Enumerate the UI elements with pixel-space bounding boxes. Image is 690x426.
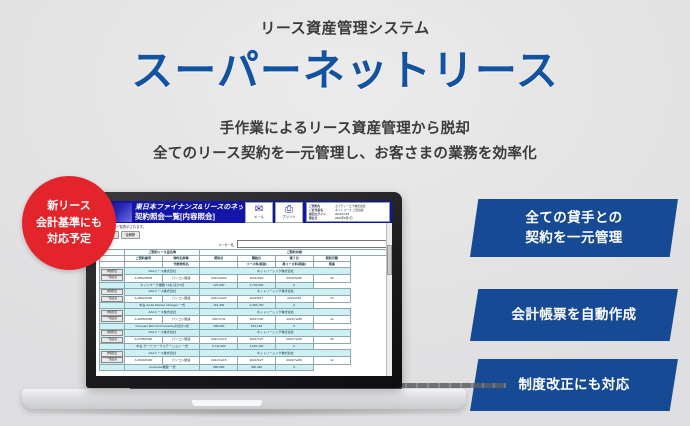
cell-lessee: AAAリース株式会社 bbox=[125, 268, 200, 275]
mail-button-label: メール bbox=[254, 216, 264, 219]
row-action-cell[interactable]: 内容照会一覧表示 bbox=[100, 350, 125, 365]
cell-lessee: AAAリース株式会社 bbox=[125, 309, 200, 316]
account-info-value: 2024年8月1日 bbox=[335, 216, 387, 220]
list-button[interactable]: 一覧表示 bbox=[101, 296, 123, 302]
cell-fee: 980,000 bbox=[200, 364, 238, 370]
badge-line-2: 会計基準にも bbox=[36, 215, 102, 232]
detail-button[interactable]: 内容照会 bbox=[101, 310, 123, 316]
row-action-cell[interactable]: 内容照会一覧表示 bbox=[100, 309, 125, 324]
account-info-row: 照会日 2024年8月1日 bbox=[309, 216, 387, 220]
cell-end-date: 2021/3a/30 bbox=[275, 275, 313, 282]
cell-contract-date: 2021/7/11 bbox=[200, 316, 238, 323]
cell-kind: パソコン関連 bbox=[162, 336, 200, 343]
cell-start-date: 2021/3/20 bbox=[238, 275, 276, 282]
table-row[interactable]: A-0708/0490パソコン関連2021/7a/152021/7/272021… bbox=[100, 336, 389, 343]
badge-line-1: 新リース bbox=[47, 198, 90, 215]
cell-contract-date: 2021/7a/23 bbox=[200, 295, 238, 302]
cell-kind: パソコン関連 bbox=[162, 357, 200, 364]
cell-lessor: ネットリーシング株式会社 bbox=[200, 288, 351, 295]
cell-start-date: 2021/8/17 bbox=[238, 295, 276, 302]
cell-end-date: 2021/7a/30 bbox=[275, 336, 313, 343]
feature-banner-3-label: 制度改正にも対応 bbox=[518, 375, 629, 395]
cell-contract-no: A-0708/0490 bbox=[125, 336, 163, 343]
detail-button[interactable]: 内容照会 bbox=[101, 330, 123, 336]
table-row[interactable]: Computer機器 一式980,000396,3400 bbox=[100, 364, 389, 370]
page-subtitle-2: 全てのリース契約を一元管理し、お客さまの業務を効率化 bbox=[0, 142, 690, 163]
search-label: メーカー名 bbox=[218, 242, 234, 247]
cell-balance: 0 bbox=[275, 364, 313, 370]
cell-contract-date: 2021/7a/15 bbox=[200, 336, 238, 343]
page-subtitle-1: 手作業によるリース資産管理から脱却 bbox=[0, 117, 690, 138]
cell-months: 36 bbox=[313, 336, 351, 343]
cell-months: 12 bbox=[313, 316, 351, 323]
row-action-cell[interactable]: 内容照会一覧表示 bbox=[100, 329, 125, 344]
table-row[interactable]: A-0609/0490パソコン関連2021/7a/152021/9/272021… bbox=[100, 357, 389, 364]
table-row[interactable]: A-2605/0469パソコン関連2021/7/112021/7/302021/… bbox=[100, 316, 389, 323]
toolbar-buttons: 全選択 全解除 bbox=[99, 231, 389, 239]
cell-months: 36 bbox=[313, 275, 351, 282]
app-title-primary: 東日本ファイナンス&リースのネットリース bbox=[135, 203, 243, 212]
feature-banner-1-line-2: 契約を一元管理 bbox=[525, 228, 622, 248]
cell-item-name: Compact Mini 62 Processing付ほか1式 bbox=[125, 323, 200, 329]
page-eyebrow: リース資産管理システム bbox=[0, 17, 690, 38]
cell-kind: パソコン関連 bbox=[162, 275, 200, 282]
app-title-block: 東日本ファイナンス&リースのネットリース 契約照会一覧[内容照会] bbox=[135, 203, 243, 222]
contracts-table-head: ご契約リース品名等 ご契約内容 ご契約番号 物件名称等 契約日 開始日 満了日 … bbox=[100, 250, 389, 268]
clear-all-button[interactable]: 全解除 bbox=[121, 231, 141, 239]
row-action-cell[interactable]: 内容照会一覧表示 bbox=[100, 288, 125, 303]
app-title-secondary: 契約照会一覧[内容照会] bbox=[135, 212, 243, 222]
list-button[interactable]: 一覧表示 bbox=[101, 337, 123, 343]
detail-button[interactable]: 内容照会 bbox=[101, 269, 123, 275]
cell-start-date: 2021/7/30 bbox=[238, 316, 276, 323]
cell-end-date: 2021/7a/30 bbox=[275, 316, 313, 323]
cell-start-date: 2021/9/27 bbox=[238, 357, 276, 364]
badge-line-3: 対応予定 bbox=[47, 231, 91, 248]
cell-end-date: 2021/3/10 bbox=[275, 295, 313, 302]
screen-scrollbar[interactable] bbox=[386, 223, 392, 376]
toolbar-note: 契約内容は一覧表示されます。 bbox=[99, 225, 389, 230]
cell-contract-date: 2021/3a/04 bbox=[200, 275, 238, 282]
search-input[interactable] bbox=[237, 240, 389, 248]
cell-contract-no: A-0552/5093 bbox=[125, 275, 163, 282]
account-info-key: 照会日 bbox=[309, 216, 335, 220]
cell-kind: パソコン関連 bbox=[162, 316, 200, 323]
cell-lessor: ネットリーシング株式会社 bbox=[200, 329, 351, 336]
app-header: 東日本ファイナンス&リースのネットリース 契約照会一覧[内容照会] ✉ メール … bbox=[96, 201, 392, 223]
scrollbar-thumb[interactable] bbox=[387, 245, 392, 275]
laptop-screen: 東日本ファイナンス&リースのネットリース 契約照会一覧[内容照会] ✉ メール … bbox=[96, 201, 392, 376]
cell-contract-no: A-0609/0490 bbox=[125, 357, 163, 364]
cell-lessor: ネットリーシング株式会社 bbox=[200, 309, 351, 316]
list-button[interactable]: 一覧表示 bbox=[101, 316, 123, 322]
cell-lessee: AAAリース株式会社 bbox=[125, 288, 200, 295]
cell-lessee: AAAリース株式会社 bbox=[125, 350, 200, 357]
cell-kind: パソコン関連 bbox=[162, 295, 200, 302]
laptop-deck bbox=[22, 389, 466, 409]
contracts-table: ご契約リース品名等 ご契約内容 ご契約番号 物件名称等 契約日 開始日 満了日 … bbox=[99, 249, 389, 371]
table-row[interactable]: 内容照会一覧表示AAAリース株式会社ネットリーシング株式会社 bbox=[100, 309, 389, 316]
row-spacer-cell bbox=[100, 364, 125, 370]
page-title: スーパーネットリース bbox=[0, 50, 690, 92]
print-button-label: プリント bbox=[282, 216, 296, 219]
cell-contract-no: A-0502/0400 bbox=[125, 295, 163, 302]
table-row[interactable]: 内容照会一覧表示AAAリース株式会社ネットリーシング株式会社 bbox=[100, 288, 389, 295]
table-row[interactable]: 内容照会一覧表示AAAリース株式会社ネットリーシング株式会社 bbox=[100, 350, 389, 357]
cell-item-name: Computer機器 一式 bbox=[125, 364, 200, 370]
mail-icon: ✉ bbox=[255, 205, 263, 215]
account-info-panel: ご契約先 エイティーエフ株式会社 ご担当者名 ネットリース ご担当者 前回ログイ… bbox=[306, 202, 390, 222]
screen-toolbar: 契約内容は一覧表示されます。 全選択 全解除 メーカー名 ご契約リース品名等 ご… bbox=[96, 223, 392, 372]
detail-button[interactable]: 内容照会 bbox=[101, 351, 123, 357]
trackpad-notch bbox=[192, 400, 262, 406]
cell-refee: 396,340 bbox=[238, 364, 276, 370]
row-action-cell[interactable]: 内容照会一覧表示 bbox=[100, 268, 125, 283]
mail-button[interactable]: ✉ メール bbox=[245, 202, 273, 223]
table-row[interactable]: A-0502/0400パソコン関連2021/7a/232021/8/172021… bbox=[100, 295, 389, 302]
cell-months: 72 bbox=[313, 295, 351, 302]
laptop-mockup: 東日本ファイナンス&リースのネットリース 契約照会一覧[内容照会] ✉ メール … bbox=[86, 192, 402, 388]
list-button[interactable]: 一覧表示 bbox=[101, 357, 123, 363]
cell-end-date: 2021/7a/30 bbox=[275, 357, 313, 364]
feature-banner-1[interactable]: 全ての貸手との 契約を一元管理 bbox=[470, 199, 678, 257]
status-badge: 新リース 会計基準にも 対応予定 bbox=[22, 176, 116, 270]
cell-contract-date: 2021/7a/15 bbox=[200, 357, 238, 364]
contracts-table-body: 内容照会一覧表示AAAリース株式会社ネットリーシング株式会社A-0552/509… bbox=[100, 268, 389, 371]
cell-contract-no: A-2605/0469 bbox=[125, 316, 163, 323]
table-row[interactable]: 内容照会一覧表示AAAリース株式会社ネットリーシング株式会社 bbox=[100, 329, 389, 336]
feature-banner-2-label: 会計帳票を自動作成 bbox=[511, 305, 636, 325]
laptop-lid: 東日本ファイナンス&リースのネットリース 契約照会一覧[内容照会] ✉ メール … bbox=[86, 192, 402, 388]
cell-months: 12 bbox=[313, 357, 351, 364]
printer-icon: ⎙ bbox=[285, 205, 293, 215]
search-row: メーカー名 bbox=[99, 240, 389, 248]
table-row[interactable]: A-0552/5093パソコン関連2021/3a/042021/3/202021… bbox=[100, 275, 389, 282]
print-button[interactable]: ⎙ プリント bbox=[275, 202, 303, 223]
cell-lessor: ネットリーシング株式会社 bbox=[200, 268, 351, 275]
cell-start-date: 2021/7/27 bbox=[238, 336, 276, 343]
detail-button[interactable]: 内容照会 bbox=[101, 289, 123, 295]
cell-lessor: ネットリーシング株式会社 bbox=[200, 350, 351, 357]
feature-banner-2[interactable]: 会計帳票を自動作成 bbox=[470, 289, 678, 341]
list-button[interactable]: 一覧表示 bbox=[101, 275, 123, 281]
table-row[interactable]: 内容照会一覧表示AAAリース株式会社ネットリーシング株式会社 bbox=[100, 268, 389, 275]
cell-lessee: AAAリース株式会社 bbox=[125, 329, 200, 336]
feature-banner-1-line-1: 全ての貸手との bbox=[525, 208, 622, 228]
